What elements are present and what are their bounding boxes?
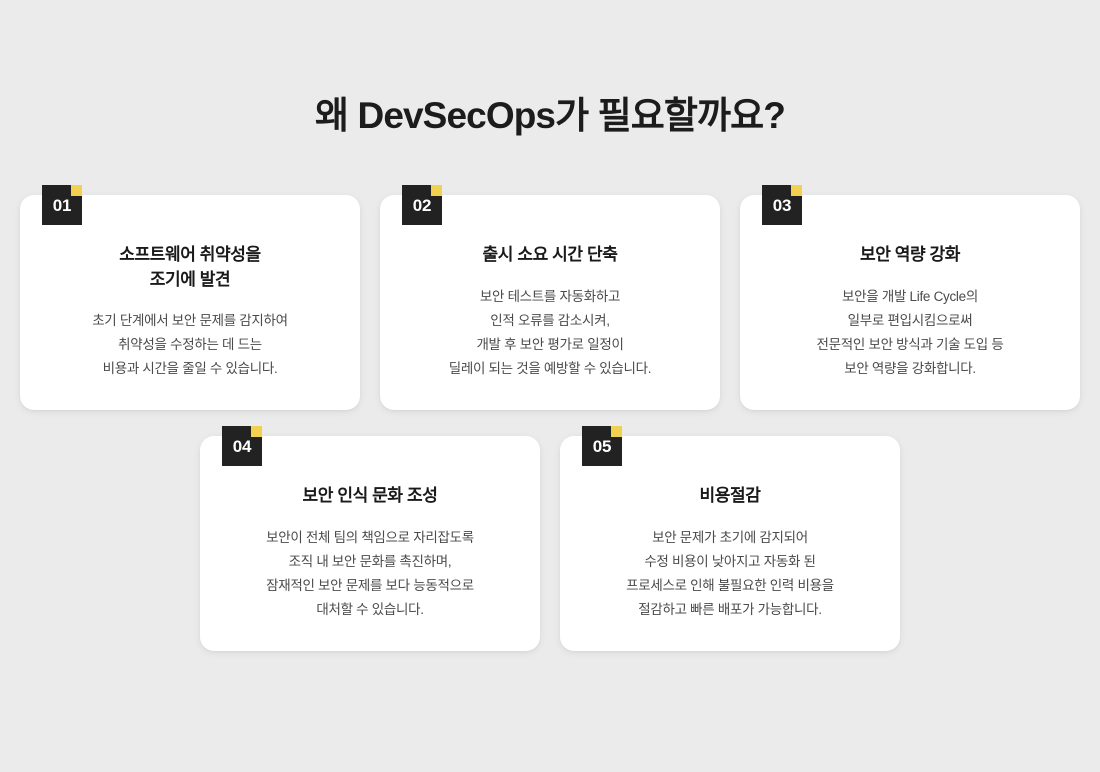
card-heading: 보안 역량 강화 [760,243,1060,268]
benefit-card-04[interactable]: 04 보안 인식 문화 조성 보안이 전체 팀의 책임으로 자리잡도록 조직 내… [200,436,540,651]
card-heading: 보안 인식 문화 조성 [220,484,520,509]
card-badge-01: 01 [42,185,82,225]
badge-accent-square-icon [431,185,442,196]
card-description: 보안 테스트를 자동화하고 인적 오류를 감소시켜, 개발 후 보안 평가로 일… [400,285,700,381]
page-title: 왜 DevSecOps가 필요할까요? [0,94,1100,138]
card-description: 보안이 전체 팀의 책임으로 자리잡도록 조직 내 보안 문화를 촉진하며, 잠… [220,526,520,622]
card-badge-02: 02 [402,185,442,225]
card-heading: 소프트웨어 취약성을 조기에 발견 [40,243,340,292]
badge-accent-square-icon [251,426,262,437]
card-number: 01 [53,197,72,214]
card-row-bottom: 04 보안 인식 문화 조성 보안이 전체 팀의 책임으로 자리잡도록 조직 내… [0,436,1100,651]
card-description: 보안을 개발 Life Cycle의 일부로 편입시킴으로써 전문적인 보안 방… [760,285,1060,381]
benefit-card-03[interactable]: 03 보안 역량 강화 보안을 개발 Life Cycle의 일부로 편입시킴으… [740,195,1080,410]
benefit-card-01[interactable]: 01 소프트웨어 취약성을 조기에 발견 초기 단계에서 보안 문제를 감지하여… [20,195,360,410]
card-number: 05 [593,438,612,455]
card-number: 02 [413,197,432,214]
card-description: 보안 문제가 초기에 감지되어 수정 비용이 낮아지고 자동화 된 프로세스로 … [580,526,880,622]
card-heading: 출시 소요 시간 단축 [400,243,700,268]
card-badge-04: 04 [222,426,262,466]
badge-accent-square-icon [611,426,622,437]
badge-accent-square-icon [791,185,802,196]
slide-container: 왜 DevSecOps가 필요할까요? 01 소프트웨어 취약성을 조기에 발견… [0,0,1100,772]
card-badge-05: 05 [582,426,622,466]
card-number: 03 [773,197,792,214]
card-row-top: 01 소프트웨어 취약성을 조기에 발견 초기 단계에서 보안 문제를 감지하여… [0,195,1100,410]
badge-accent-square-icon [71,185,82,196]
card-badge-03: 03 [762,185,802,225]
card-number: 04 [233,438,252,455]
card-heading: 비용절감 [580,484,880,509]
card-description: 초기 단계에서 보안 문제를 감지하여 취약성을 수정하는 데 드는 비용과 시… [40,309,340,381]
benefit-card-02[interactable]: 02 출시 소요 시간 단축 보안 테스트를 자동화하고 인적 오류를 감소시켜… [380,195,720,410]
benefit-card-05[interactable]: 05 비용절감 보안 문제가 초기에 감지되어 수정 비용이 낮아지고 자동화 … [560,436,900,651]
